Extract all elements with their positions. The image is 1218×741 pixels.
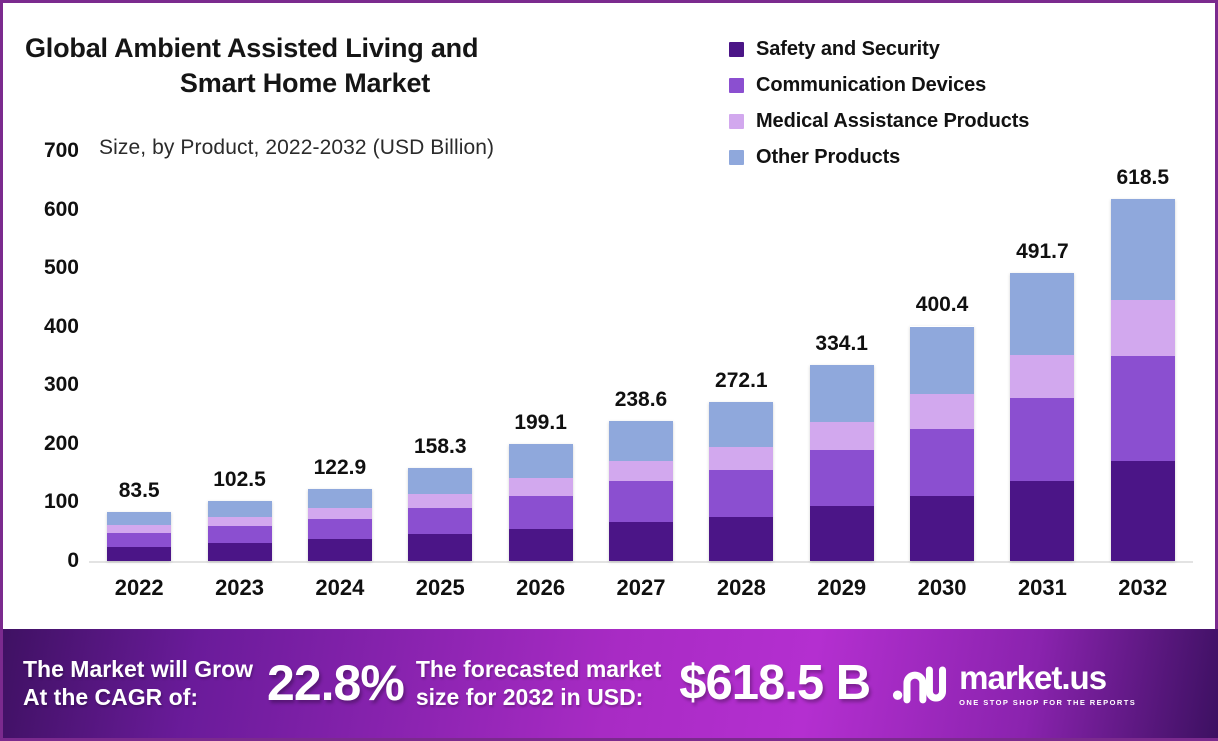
bar-segment[interactable] xyxy=(509,496,573,529)
bar-segment[interactable] xyxy=(1111,461,1175,561)
axis-baseline xyxy=(89,561,1193,563)
stacked-bar[interactable] xyxy=(1111,199,1175,561)
bar-segment[interactable] xyxy=(1111,199,1175,300)
y-tick-label: 0 xyxy=(17,549,79,573)
bar-segment[interactable] xyxy=(609,481,673,521)
forecast-label: The forecasted market size for 2032 in U… xyxy=(416,656,661,710)
bar-value-label: 83.5 xyxy=(89,479,189,503)
bar-segment[interactable] xyxy=(910,496,974,561)
x-axis-labels: 2022202320242025202620272028202920302031… xyxy=(89,575,1193,601)
bar-value-label: 102.5 xyxy=(189,468,289,492)
bar-column[interactable]: 400.4 xyxy=(892,151,992,561)
page-title: Global Ambient Assisted Living andSmart … xyxy=(25,31,625,101)
y-tick-label: 200 xyxy=(17,432,79,456)
title-line-2: Smart Home Market xyxy=(25,66,625,101)
bar-segment[interactable] xyxy=(910,327,974,395)
stacked-bar[interactable] xyxy=(509,444,573,561)
bar-segment[interactable] xyxy=(308,539,372,561)
bars-container: 83.5102.5122.9158.3199.1238.6272.1334.14… xyxy=(89,151,1193,561)
bar-value-label: 618.5 xyxy=(1093,166,1193,190)
bar-segment[interactable] xyxy=(107,547,171,561)
bar-column[interactable]: 334.1 xyxy=(792,151,892,561)
bar-segment[interactable] xyxy=(709,402,773,448)
infographic-frame: Global Ambient Assisted Living andSmart … xyxy=(0,0,1218,741)
stacked-bar[interactable] xyxy=(910,326,974,561)
x-axis-label: 2026 xyxy=(490,575,590,601)
cagr-label-line-1: The Market will Grow xyxy=(23,656,253,683)
summary-banner: The Market will Grow At the CAGR of: 22.… xyxy=(3,629,1218,738)
bar-segment[interactable] xyxy=(107,533,171,547)
bar-segment[interactable] xyxy=(609,461,673,481)
x-axis-label: 2024 xyxy=(290,575,390,601)
bar-segment[interactable] xyxy=(1111,300,1175,357)
bar-segment[interactable] xyxy=(609,421,673,461)
bar-segment[interactable] xyxy=(208,526,272,543)
logo-text-block: market.us ONE STOP SHOP FOR THE REPORTS xyxy=(959,661,1136,707)
y-axis: 7006005004003002001000 xyxy=(17,151,79,561)
x-axis-label: 2027 xyxy=(591,575,691,601)
x-axis-label: 2030 xyxy=(892,575,992,601)
bar-segment[interactable] xyxy=(810,506,874,561)
bar-value-label: 491.7 xyxy=(992,240,1092,264)
stacked-bar[interactable] xyxy=(308,489,372,561)
stacked-bar[interactable] xyxy=(609,421,673,561)
x-axis-label: 2029 xyxy=(792,575,892,601)
bar-segment[interactable] xyxy=(509,444,573,478)
bar-segment[interactable] xyxy=(810,365,874,421)
bar-value-label: 199.1 xyxy=(490,411,590,435)
bar-segment[interactable] xyxy=(1010,481,1074,561)
y-tick-label: 300 xyxy=(17,373,79,397)
bar-segment[interactable] xyxy=(1010,355,1074,398)
bar-segment[interactable] xyxy=(408,468,472,493)
bar-column[interactable]: 491.7 xyxy=(992,151,1092,561)
bar-segment[interactable] xyxy=(810,422,874,450)
legend-label: Safety and Security xyxy=(756,38,940,61)
cagr-value: 22.8% xyxy=(267,654,404,713)
bar-column[interactable]: 272.1 xyxy=(691,151,791,561)
bar-value-label: 238.6 xyxy=(591,388,691,412)
y-tick-label: 400 xyxy=(17,315,79,339)
forecast-value: $618.5 B xyxy=(679,655,870,713)
bar-segment[interactable] xyxy=(509,529,573,561)
bar-segment[interactable] xyxy=(107,512,171,525)
x-axis-label: 2028 xyxy=(691,575,791,601)
cagr-label: The Market will Grow At the CAGR of: xyxy=(23,656,253,710)
legend-item-2[interactable]: Medical Assistance Products xyxy=(729,103,1029,139)
bar-segment[interactable] xyxy=(308,489,372,508)
bar-segment[interactable] xyxy=(408,508,472,534)
bar-segment[interactable] xyxy=(910,429,974,496)
legend-swatch-icon xyxy=(729,114,744,129)
stacked-bar[interactable] xyxy=(208,501,272,561)
bar-column[interactable]: 238.6 xyxy=(591,151,691,561)
logo-tagline: ONE STOP SHOP FOR THE REPORTS xyxy=(959,698,1136,707)
bar-segment[interactable] xyxy=(208,543,272,561)
forecast-label-line-2: size for 2032 in USD: xyxy=(416,684,661,711)
legend-label: Communication Devices xyxy=(756,74,986,97)
stacked-bar[interactable] xyxy=(107,512,171,561)
y-tick-label: 100 xyxy=(17,490,79,514)
bar-column[interactable]: 83.5 xyxy=(89,151,189,561)
bar-segment[interactable] xyxy=(910,394,974,429)
bar-segment[interactable] xyxy=(408,534,472,561)
market-us-logo-icon xyxy=(892,662,950,706)
legend-item-1[interactable]: Communication Devices xyxy=(729,67,1029,103)
forecast-label-line-1: The forecasted market xyxy=(416,656,661,683)
bar-segment[interactable] xyxy=(107,525,171,533)
bar-segment[interactable] xyxy=(1010,398,1074,481)
bar-segment[interactable] xyxy=(308,519,372,539)
title-line-1: Global Ambient Assisted Living and xyxy=(25,33,478,63)
legend-swatch-icon xyxy=(729,42,744,57)
bar-value-label: 272.1 xyxy=(691,369,791,393)
x-axis-label: 2023 xyxy=(189,575,289,601)
x-axis-label: 2022 xyxy=(89,575,189,601)
bar-column[interactable]: 618.5 xyxy=(1093,151,1193,561)
bar-column[interactable]: 122.9 xyxy=(290,151,390,561)
x-axis-label: 2031 xyxy=(992,575,1092,601)
y-tick-label: 500 xyxy=(17,256,79,280)
bar-segment[interactable] xyxy=(509,478,573,496)
bar-column[interactable]: 158.3 xyxy=(390,151,490,561)
logo-name: market.us xyxy=(959,661,1136,694)
bar-value-label: 400.4 xyxy=(892,293,992,317)
bar-column[interactable]: 102.5 xyxy=(189,151,289,561)
bar-segment[interactable] xyxy=(208,501,272,517)
y-tick-label: 700 xyxy=(17,139,79,163)
stacked-bar[interactable] xyxy=(1010,273,1074,561)
bar-segment[interactable] xyxy=(709,517,773,561)
bar-value-label: 334.1 xyxy=(792,332,892,356)
bar-segment[interactable] xyxy=(709,470,773,517)
bar-value-label: 158.3 xyxy=(390,435,490,459)
legend-item-0[interactable]: Safety and Security xyxy=(729,31,1029,67)
stacked-bar[interactable] xyxy=(408,468,472,561)
bar-segment[interactable] xyxy=(308,508,372,519)
y-tick-label: 600 xyxy=(17,198,79,222)
bar-segment[interactable] xyxy=(1111,356,1175,461)
stacked-bar[interactable] xyxy=(810,365,874,561)
bar-segment[interactable] xyxy=(408,494,472,508)
legend-label: Medical Assistance Products xyxy=(756,110,1029,133)
legend-swatch-icon xyxy=(729,78,744,93)
bar-column[interactable]: 199.1 xyxy=(490,151,590,561)
bar-value-label: 122.9 xyxy=(290,456,390,480)
bar-segment[interactable] xyxy=(810,450,874,507)
bar-segment[interactable] xyxy=(709,447,773,470)
bar-segment[interactable] xyxy=(208,517,272,526)
bar-segment[interactable] xyxy=(609,522,673,561)
bar-segment[interactable] xyxy=(1010,273,1074,355)
x-axis-label: 2032 xyxy=(1093,575,1193,601)
cagr-label-line-2: At the CAGR of: xyxy=(23,684,253,711)
market-us-logo[interactable]: market.us ONE STOP SHOP FOR THE REPORTS xyxy=(892,661,1136,707)
x-axis-label: 2025 xyxy=(390,575,490,601)
stacked-bar[interactable] xyxy=(709,402,773,561)
